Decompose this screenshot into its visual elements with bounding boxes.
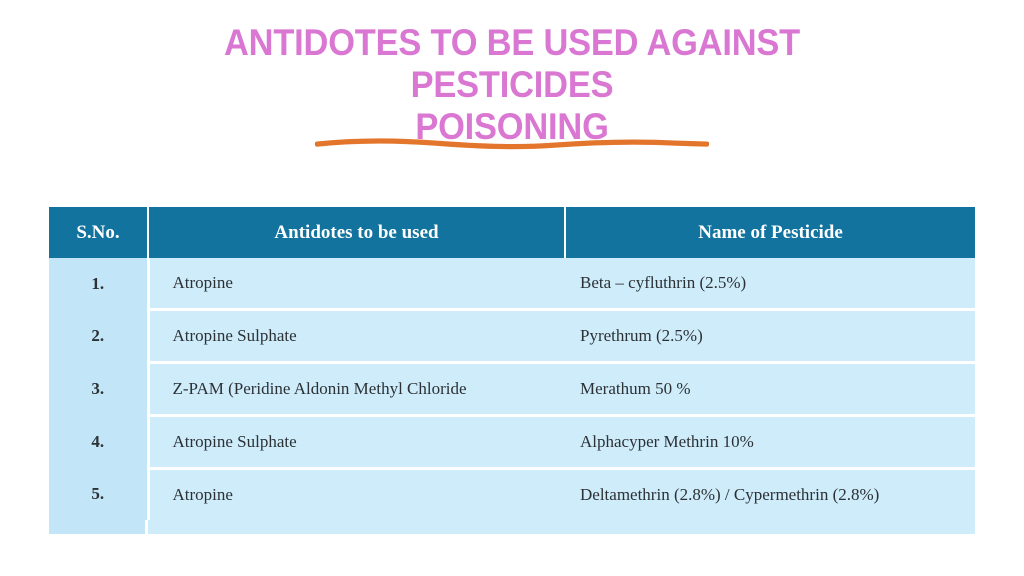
column-header-pesticide: Name of Pesticide <box>565 207 975 258</box>
cell-antidote: Atropine Sulphate <box>148 310 565 363</box>
cell-sno: 2. <box>49 310 148 363</box>
cell-pesticide: Alphacyper Methrin 10% <box>565 416 975 469</box>
table-body: 1. Atropine Beta – cyfluthrin (2.5%) 2. … <box>49 258 975 520</box>
table-bottom-edge <box>49 520 975 534</box>
antidotes-table: S.No. Antidotes to be used Name of Pesti… <box>49 207 975 520</box>
cell-sno: 5. <box>49 469 148 521</box>
table-row: 5. Atropine Deltamethrin (2.8%) / Cyperm… <box>49 469 975 521</box>
table-header-row: S.No. Antidotes to be used Name of Pesti… <box>49 207 975 258</box>
cell-antidote: Atropine <box>148 258 565 310</box>
cell-pesticide: Pyrethrum (2.5%) <box>565 310 975 363</box>
table-row: 3. Z-PAM (Peridine Aldonin Methyl Chlori… <box>49 363 975 416</box>
title-underline-decoration <box>315 133 709 155</box>
table-row: 4. Atropine Sulphate Alphacyper Methrin … <box>49 416 975 469</box>
table-bottom-fill <box>49 520 975 534</box>
cell-sno: 1. <box>49 258 148 310</box>
antidotes-table-container: S.No. Antidotes to be used Name of Pesti… <box>49 207 975 534</box>
table-bottom-fill-sno <box>49 520 148 534</box>
table-row: 1. Atropine Beta – cyfluthrin (2.5%) <box>49 258 975 310</box>
cell-sno: 3. <box>49 363 148 416</box>
cell-pesticide: Beta – cyfluthrin (2.5%) <box>565 258 975 310</box>
page-title: ANTIDOTES TO BE USED AGAINST PESTICIDES … <box>140 22 884 148</box>
cell-antidote: Z-PAM (Peridine Aldonin Methyl Chloride <box>148 363 565 416</box>
cell-pesticide: Merathum 50 % <box>565 363 975 416</box>
table-row: 2. Atropine Sulphate Pyrethrum (2.5%) <box>49 310 975 363</box>
column-header-sno: S.No. <box>49 207 148 258</box>
cell-pesticide: Deltamethrin (2.8%) / Cypermethrin (2.8%… <box>565 469 975 521</box>
cell-antidote: Atropine Sulphate <box>148 416 565 469</box>
cell-antidote: Atropine <box>148 469 565 521</box>
table-header: S.No. Antidotes to be used Name of Pesti… <box>49 207 975 258</box>
column-header-antidote: Antidotes to be used <box>148 207 565 258</box>
cell-sno: 4. <box>49 416 148 469</box>
